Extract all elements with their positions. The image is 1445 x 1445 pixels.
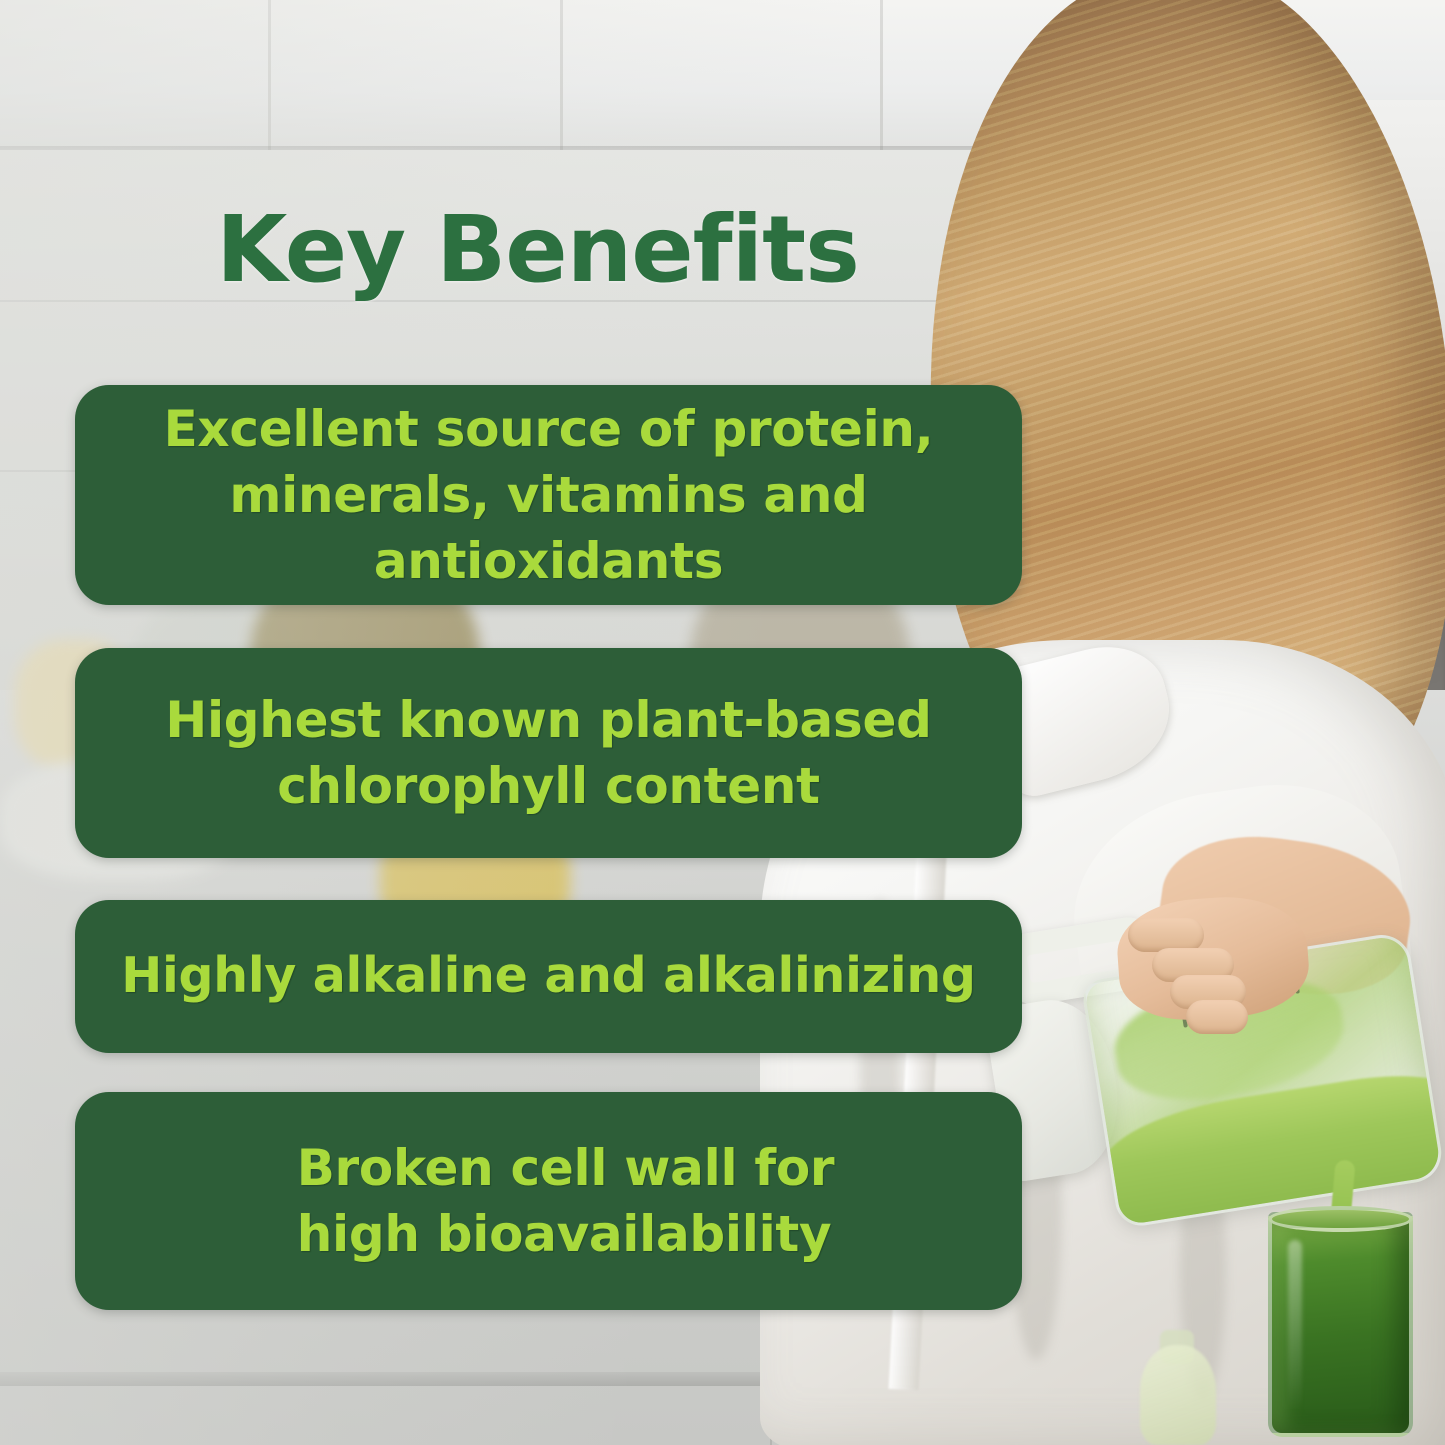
page-title: Key Benefits (0, 196, 1075, 303)
benefit-card-protein-source: Excellent source of protein, minerals, v… (75, 385, 1022, 605)
benefit-card-alkaline: Highly alkaline and alkalinizing (75, 900, 1022, 1053)
benefit-text: Highly alkaline and alkalinizing (95, 944, 1001, 1009)
benefit-card-chlorophyll: Highest known plant-based chlorophyll co… (75, 648, 1022, 858)
benefit-text: Excellent source of protein, minerals, v… (75, 396, 1022, 594)
content-overlay: Key Benefits Excellent source of protein… (0, 0, 1445, 1445)
benefit-text: Highest known plant-based chlorophyll co… (139, 687, 957, 819)
benefit-text: Broken cell wall for high bioavailabilit… (237, 1135, 861, 1267)
benefit-card-bioavailability: Broken cell wall for high bioavailabilit… (75, 1092, 1022, 1310)
